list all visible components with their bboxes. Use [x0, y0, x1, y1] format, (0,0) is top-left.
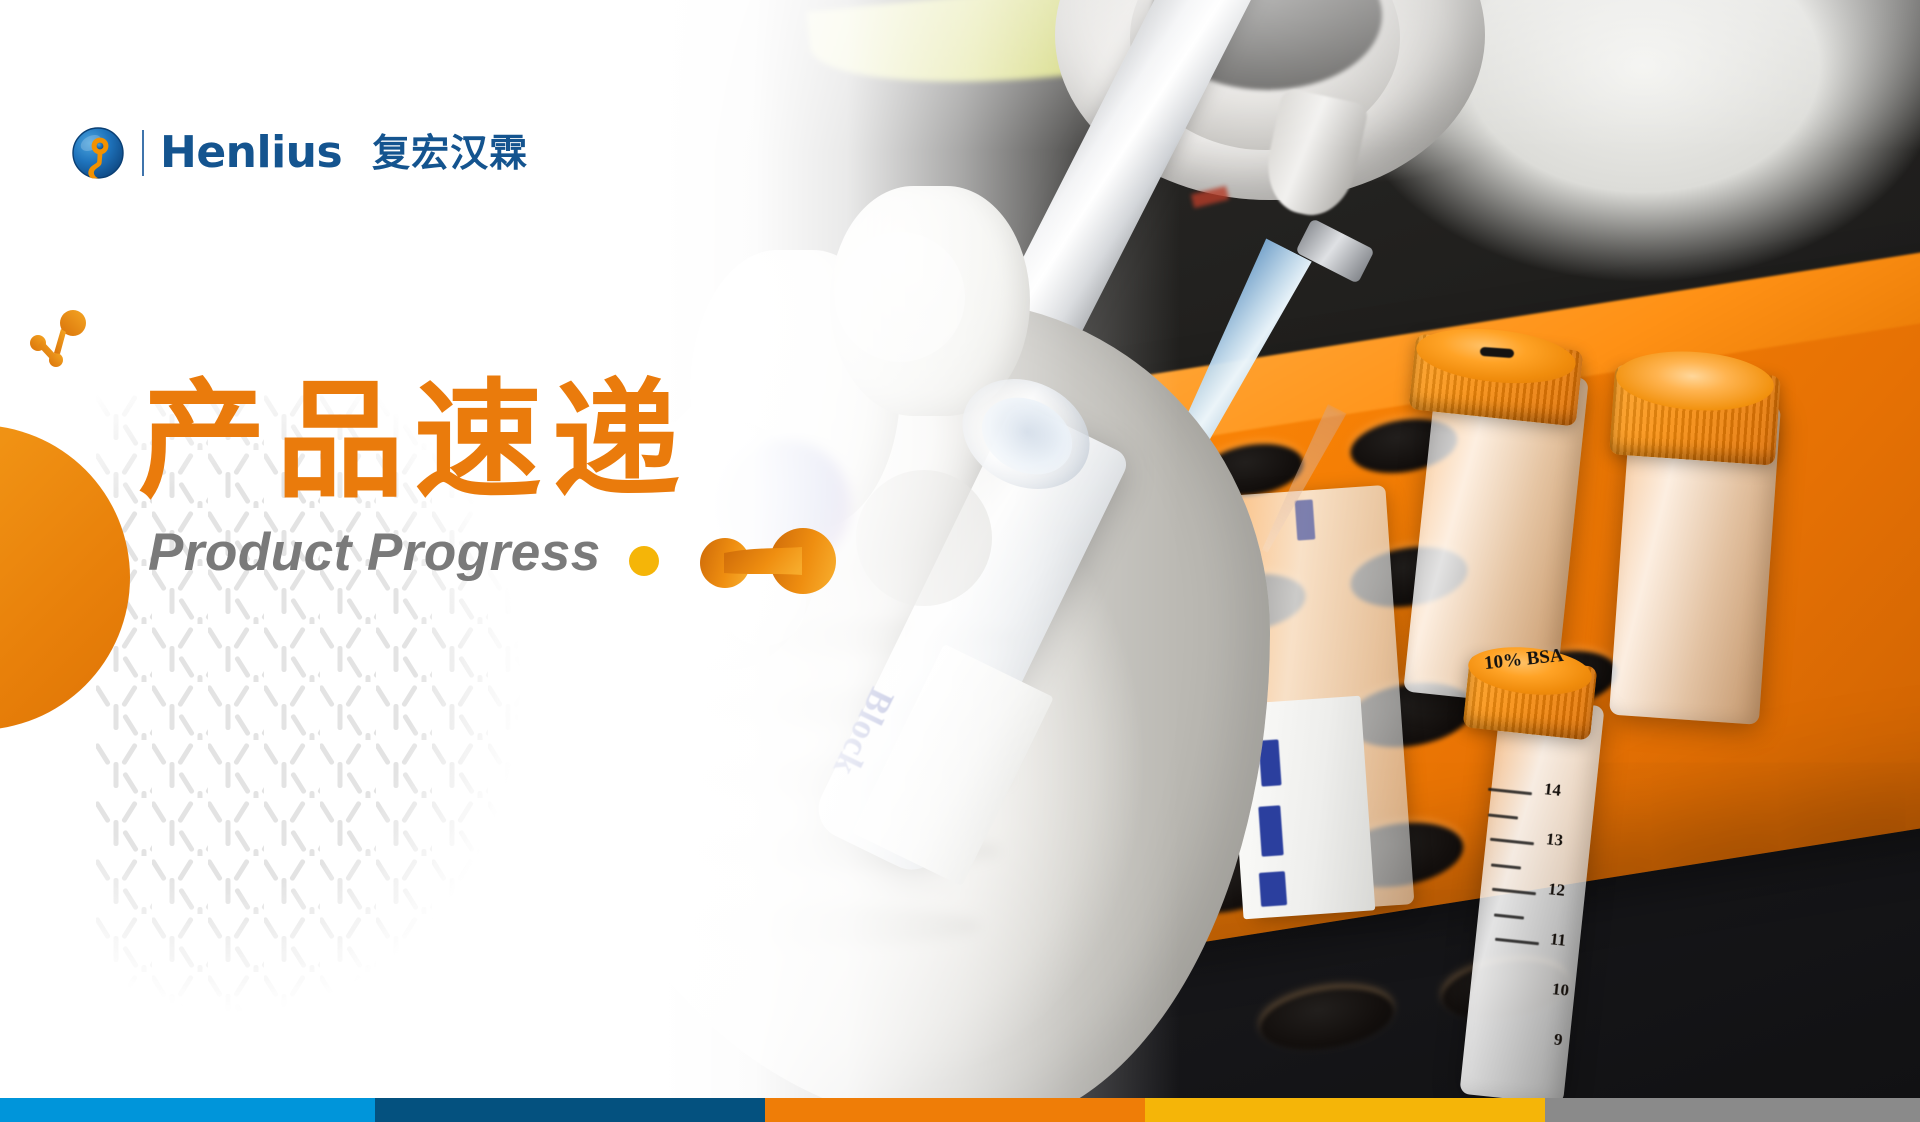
- molecule-dumbbell-large: [698, 525, 836, 597]
- molecule-dumbbell-small: [30, 310, 110, 372]
- logo-wordmark: Henlius: [160, 131, 342, 175]
- graduation-number: 14: [1543, 779, 1562, 801]
- logo-divider: [142, 130, 144, 176]
- page-title-chinese: 产品速递: [138, 378, 690, 506]
- segment-yellow: [1145, 1098, 1545, 1122]
- graduation-number: 11: [1549, 929, 1567, 951]
- logo-chinese-name: 复宏汉霖: [372, 134, 528, 172]
- left-content-pane: 产品速递 Product Progress: [0, 0, 1000, 1098]
- graduation-number: 10: [1551, 979, 1570, 1001]
- henlius-circular-logo-icon: [72, 127, 124, 179]
- brand-logo[interactable]: Henlius 复宏汉霖: [72, 127, 528, 179]
- page-subtitle-english: Product Progress: [148, 522, 601, 583]
- amber-dot-decoration: [629, 546, 659, 576]
- graduation-number: 13: [1545, 829, 1564, 851]
- segment-dark-blue: [375, 1098, 765, 1122]
- bottom-color-bar: [0, 1098, 1920, 1122]
- segment-light-blue: [0, 1098, 375, 1122]
- slide-canvas: 10% BSA 14 13 12 11 10 9: [0, 0, 1920, 1122]
- segment-orange: [765, 1098, 1145, 1122]
- graduation-number: 12: [1547, 879, 1566, 901]
- segment-gray: [1545, 1098, 1920, 1122]
